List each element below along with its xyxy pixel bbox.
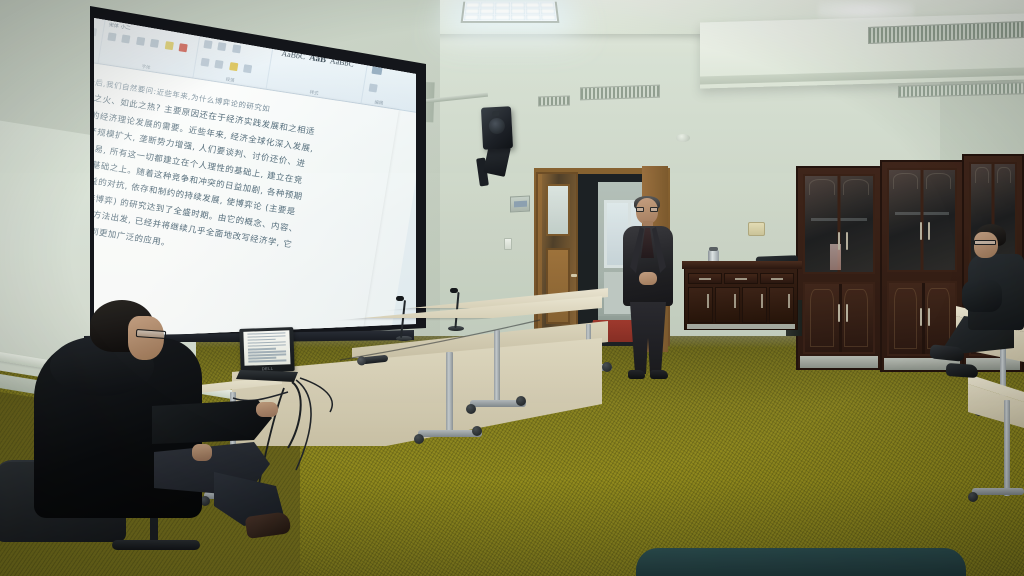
- sideboard-base: [687, 324, 795, 329]
- smoke-detector-icon: [676, 134, 690, 142]
- table-caster: [414, 434, 424, 444]
- presenter-trousers: [630, 302, 666, 374]
- underline-icon[interactable]: [136, 37, 145, 46]
- operator-hand-on-mouse: [256, 402, 278, 417]
- table-leg: [494, 330, 500, 406]
- sideboard-drawers[interactable]: [688, 273, 794, 284]
- gooseneck-mic-head[interactable]: [450, 288, 458, 293]
- foreground-chair-back[interactable]: [636, 548, 966, 576]
- strikethrough-icon[interactable]: [150, 39, 159, 48]
- table-caster: [968, 492, 978, 502]
- table-caster: [602, 362, 612, 372]
- bookcase-left[interactable]: [796, 166, 882, 370]
- presenter-shoe-left: [628, 370, 645, 379]
- table-caster: [472, 426, 482, 436]
- bold-icon[interactable]: [107, 32, 116, 41]
- presenter-shoe-right: [650, 370, 668, 379]
- line-spacing-icon[interactable]: [243, 64, 252, 73]
- multilevel-list-icon[interactable]: [232, 44, 241, 53]
- attendee-shoe-right: [946, 363, 979, 378]
- operator-arm-reaching: [152, 400, 272, 444]
- align-justify-icon[interactable]: [229, 62, 238, 71]
- operator-shoe: [245, 511, 292, 539]
- door-handle-icon[interactable]: [571, 274, 577, 277]
- operator-other-hand: [192, 444, 212, 461]
- highlight-icon[interactable]: [165, 41, 174, 50]
- replace-icon[interactable]: [369, 83, 378, 92]
- speaker-cone: [488, 118, 505, 135]
- table-leg: [1004, 400, 1010, 496]
- number-list-icon[interactable]: [218, 42, 227, 51]
- attendee-arm: [962, 280, 1002, 312]
- wall-socket-plate[interactable]: [748, 222, 765, 236]
- light-switch[interactable]: [504, 238, 512, 250]
- presenter-standing: [620, 198, 676, 384]
- right-table-front[interactable]: [968, 374, 1024, 484]
- bookcase-base: [800, 356, 878, 368]
- wall-speaker-icon: [481, 106, 513, 150]
- sideboard-top: [682, 261, 802, 269]
- attendee-head: [974, 232, 998, 258]
- hvac-grille-small-icon: [538, 95, 570, 106]
- attendee-glasses-icon: [974, 240, 996, 245]
- attendee-seated-right: [924, 224, 1024, 384]
- ceiling-light-secondary: [818, 0, 914, 20]
- wall-information-plate: [510, 195, 530, 212]
- bullet-list-icon[interactable]: [203, 40, 212, 49]
- hvac-grille-mid-icon: [580, 85, 660, 101]
- table-caster: [466, 404, 476, 414]
- italic-icon[interactable]: [122, 35, 131, 44]
- light-louvre-grid: [464, 3, 556, 21]
- conference-room-photo: 博士论文—利益冲突与合作博弈分析2012年11月.doc [兼容模式] - Mi…: [0, 0, 1024, 576]
- presenter-clasped-hands: [639, 272, 657, 285]
- ceiling-light-panel: [461, 2, 560, 23]
- table-leg: [446, 352, 453, 436]
- speaker-tweeter: [492, 111, 499, 116]
- operator-seated-left: [24, 296, 294, 576]
- door-glass-pane: [546, 184, 570, 236]
- font-color-icon[interactable]: [179, 43, 188, 52]
- align-left-icon[interactable]: [200, 58, 209, 67]
- sideboard-cabinet[interactable]: [684, 264, 798, 330]
- sideboard-doors[interactable]: [688, 287, 794, 323]
- table-foot: [972, 488, 1024, 495]
- table-caster: [516, 396, 526, 406]
- presenter-glasses-icon: [636, 207, 658, 212]
- align-center-icon[interactable]: [215, 60, 224, 69]
